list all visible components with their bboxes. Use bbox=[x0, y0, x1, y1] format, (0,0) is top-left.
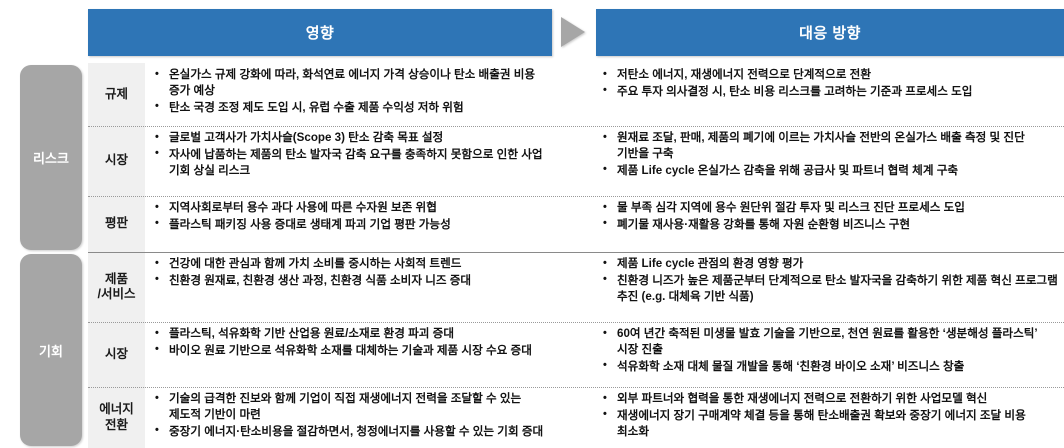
bullet-item: 저탄소 에너지, 재생에너지 전력으로 단계적으로 전환 bbox=[600, 67, 1058, 83]
response-bullets: 원재료 조달, 판매, 제품의 폐기에 이르는 가치사슬 전반의 온실가스 배출… bbox=[600, 130, 1058, 178]
bullet-item: 외부 파트너와 협력을 통한 재생에너지 전력으로 전환하기 위한 사업모델 혁… bbox=[600, 391, 1058, 407]
bullet-item: 주요 투자 의사결정 시, 탄소 비용 리스크를 고려하는 기준과 프로세스 도… bbox=[600, 84, 1058, 100]
impact-bullets: 온실가스 규제 강화에 따라, 화석연료 에너지 가격 상승이나 탄소 배출권 … bbox=[152, 67, 548, 115]
bullet-item: 제품 Life cycle 온실가스 감축을 위해 공급사 및 파트너 협력 체… bbox=[600, 163, 1058, 179]
bullet-item: 중장기 에너지·탄소비용을 절감하면서, 청정에너지를 사용할 수 있는 기회 … bbox=[152, 424, 548, 440]
driver-label: 평판 bbox=[88, 196, 145, 252]
bullet-item: 플라스틱 패키징 사용 증대로 생태계 파괴 기업 평판 가능성 bbox=[152, 217, 548, 233]
impact-bullets: 건강에 대한 관심과 함께 가치 소비를 중시하는 사회적 트렌드친환경 원재료… bbox=[152, 256, 548, 289]
impact-bullets: 지역사회로부터 용수 과다 사용에 따른 수자원 보존 위협플라스틱 패키징 사… bbox=[152, 200, 548, 233]
bullet-item: 친환경 니즈가 높은 제품군부터 단계적으로 탄소 발자국을 감축하기 위한 제… bbox=[600, 273, 1058, 305]
bullet-item: 플라스틱, 석유화학 기반 산업용 원료/소재로 환경 파괴 증대 bbox=[152, 326, 548, 342]
arrow-right-triangle-icon bbox=[561, 17, 585, 47]
response-cell: 물 부족 심각 지역에 용수 원단위 절감 투자 및 리스크 진단 프로세스 도… bbox=[600, 196, 1062, 252]
impact-cell: 지역사회로부터 용수 과다 사용에 따른 수자원 보존 위협플라스틱 패키징 사… bbox=[152, 196, 552, 252]
bullet-item: 바이오 원료 기반으로 석유화학 소재를 대체하는 기술과 제품 시장 수요 증… bbox=[152, 343, 548, 359]
driver-label: 제품 /서비스 bbox=[88, 252, 145, 322]
response-cell: 제품 Life cycle 관점의 환경 영향 평가친환경 니즈가 높은 제품군… bbox=[600, 252, 1062, 322]
bullet-item: 제품 Life cycle 관점의 환경 영향 평가 bbox=[600, 256, 1058, 272]
row-separator bbox=[88, 196, 1064, 197]
bullet-item: 기술의 급격한 진보와 함께 기업이 직접 재생에너지 전력을 조달할 수 있는… bbox=[152, 391, 548, 423]
bullet-item: 자사에 납품하는 제품의 탄소 발자국 감축 요구를 충족하지 못함으로 인한 … bbox=[152, 147, 548, 179]
row-separator bbox=[88, 322, 1064, 323]
bullet-item: 지역사회로부터 용수 과다 사용에 따른 수자원 보존 위협 bbox=[152, 200, 548, 216]
driver-label: 시장 bbox=[88, 322, 145, 387]
bullet-item: 물 부족 심각 지역에 용수 원단위 절감 투자 및 리스크 진단 프로세스 도… bbox=[600, 200, 1058, 216]
response-cell: 외부 파트너와 협력을 통한 재생에너지 전력으로 전환하기 위한 사업모델 혁… bbox=[600, 387, 1062, 448]
response-bullets: 60여 년간 축적된 미생물 발효 기술을 기반으로, 천연 원료를 활용한 ‘… bbox=[600, 326, 1058, 374]
response-cell: 저탄소 에너지, 재생에너지 전력으로 단계적으로 전환주요 투자 의사결정 시… bbox=[600, 63, 1062, 126]
bullet-item: 재생에너지 장기 구매계약 체결 등을 통해 탄소배출권 확보와 중장기 에너지… bbox=[600, 408, 1058, 440]
bullet-item: 온실가스 규제 강화에 따라, 화석연료 에너지 가격 상승이나 탄소 배출권 … bbox=[152, 67, 548, 99]
impact-cell: 플라스틱, 석유화학 기반 산업용 원료/소재로 환경 파괴 증대바이오 원료 … bbox=[152, 322, 552, 387]
impact-bullets: 플라스틱, 석유화학 기반 산업용 원료/소재로 환경 파괴 증대바이오 원료 … bbox=[152, 326, 548, 359]
bullet-item: 60여 년간 축적된 미생물 발효 기술을 기반으로, 천연 원료를 활용한 ‘… bbox=[600, 326, 1058, 358]
driver-label: 시장 bbox=[88, 126, 145, 196]
driver-label: 규제 bbox=[88, 63, 145, 126]
esg-risk-opportunity-matrix: 영향 대응 방향 리스크 기회 규제온실가스 규제 강화에 따라, 화석연료 에… bbox=[0, 0, 1064, 448]
bullet-item: 탄소 국경 조정 제도 도입 시, 유럽 수출 제품 수익성 저하 위험 bbox=[152, 100, 548, 116]
bullet-item: 폐기물 재사용·재활용 강화를 통해 자원 순환형 비즈니스 구현 bbox=[600, 217, 1058, 233]
response-cell: 원재료 조달, 판매, 제품의 폐기에 이르는 가치사슬 전반의 온실가스 배출… bbox=[600, 126, 1062, 196]
matrix-body: 리스크 기회 규제온실가스 규제 강화에 따라, 화석연료 에너지 가격 상승이… bbox=[0, 63, 1064, 448]
impact-cell: 기술의 급격한 진보와 함께 기업이 직접 재생에너지 전력을 조달할 수 있는… bbox=[152, 387, 552, 448]
impact-bullets: 글로벌 고객사가 가치사슬(Scope 3) 탄소 감축 목표 설정자사에 납품… bbox=[152, 130, 548, 178]
row-separator bbox=[88, 252, 1064, 253]
response-bullets: 외부 파트너와 협력을 통한 재생에너지 전력으로 전환하기 위한 사업모델 혁… bbox=[600, 391, 1058, 439]
header-band: 영향 대응 방향 bbox=[0, 9, 1064, 56]
impact-cell: 건강에 대한 관심과 함께 가치 소비를 중시하는 사회적 트렌드친환경 원재료… bbox=[152, 252, 552, 322]
header-impact: 영향 bbox=[88, 9, 552, 56]
category-box-risk: 리스크 bbox=[20, 65, 82, 250]
bullet-item: 원재료 조달, 판매, 제품의 폐기에 이르는 가치사슬 전반의 온실가스 배출… bbox=[600, 130, 1058, 162]
response-bullets: 제품 Life cycle 관점의 환경 영향 평가친환경 니즈가 높은 제품군… bbox=[600, 256, 1058, 304]
header-response: 대응 방향 bbox=[596, 9, 1064, 56]
impact-bullets: 기술의 급격한 진보와 함께 기업이 직접 재생에너지 전력을 조달할 수 있는… bbox=[152, 391, 548, 439]
bullet-item: 글로벌 고객사가 가치사슬(Scope 3) 탄소 감축 목표 설정 bbox=[152, 130, 548, 146]
impact-cell: 온실가스 규제 강화에 따라, 화석연료 에너지 가격 상승이나 탄소 배출권 … bbox=[152, 63, 552, 126]
row-separator bbox=[88, 387, 1064, 388]
bullet-item: 친환경 원재료, 친환경 생산 과정, 친환경 식품 소비자 니즈 증대 bbox=[152, 273, 548, 289]
bullet-item: 건강에 대한 관심과 함께 가치 소비를 중시하는 사회적 트렌드 bbox=[152, 256, 548, 272]
bullet-item: 석유화학 소재 대체 물질 개발을 통해 ‘친환경 바이오 소재’ 비즈니스 창… bbox=[600, 359, 1058, 375]
response-bullets: 저탄소 에너지, 재생에너지 전력으로 단계적으로 전환주요 투자 의사결정 시… bbox=[600, 67, 1058, 100]
row-separator bbox=[88, 126, 1064, 127]
category-box-opportunity: 기회 bbox=[20, 254, 82, 446]
response-cell: 60여 년간 축적된 미생물 발효 기술을 기반으로, 천연 원료를 활용한 ‘… bbox=[600, 322, 1062, 387]
response-bullets: 물 부족 심각 지역에 용수 원단위 절감 투자 및 리스크 진단 프로세스 도… bbox=[600, 200, 1058, 233]
driver-label: 에너지 전환 bbox=[88, 387, 145, 448]
impact-cell: 글로벌 고객사가 가치사슬(Scope 3) 탄소 감축 목표 설정자사에 납품… bbox=[152, 126, 552, 196]
